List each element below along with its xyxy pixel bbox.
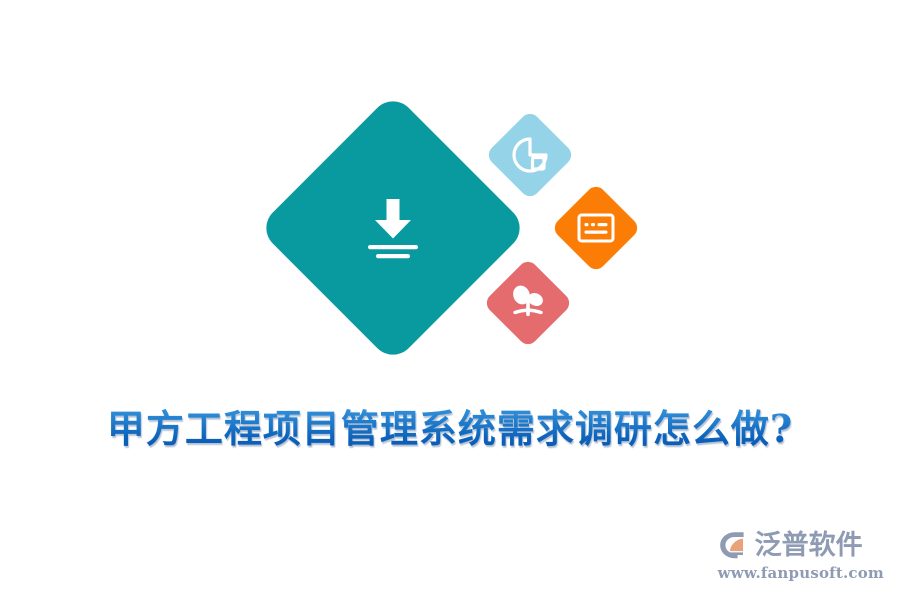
logo-company-name: 泛普软件 bbox=[755, 532, 863, 559]
sprout-plant-icon bbox=[506, 281, 550, 325]
brand-logo: 泛普软件 www.fanpusoft.com bbox=[717, 529, 884, 582]
fanpu-logo-icon bbox=[717, 529, 751, 561]
page-title: 甲方工程项目管理系统需求调研怎么做? bbox=[107, 398, 793, 453]
pie-chart-icon bbox=[510, 135, 550, 175]
form-card-icon bbox=[575, 207, 617, 249]
diamond-red-sprout bbox=[483, 258, 574, 349]
download-icon bbox=[356, 191, 430, 265]
diamond-icon-cluster bbox=[0, 0, 900, 400]
logo-website-url: www.fanpusoft.com bbox=[718, 564, 884, 582]
logo-row: 泛普软件 bbox=[717, 529, 863, 561]
diamond-main-download bbox=[257, 92, 529, 364]
page-title-wrap: 甲方工程项目管理系统需求调研怎么做? bbox=[0, 398, 900, 453]
diamond-orange-form bbox=[551, 183, 642, 274]
banner-root: 甲方工程项目管理系统需求调研怎么做? 泛普软件 www.fanpusoft.co… bbox=[0, 0, 900, 600]
diamond-blue-chart bbox=[485, 110, 576, 201]
